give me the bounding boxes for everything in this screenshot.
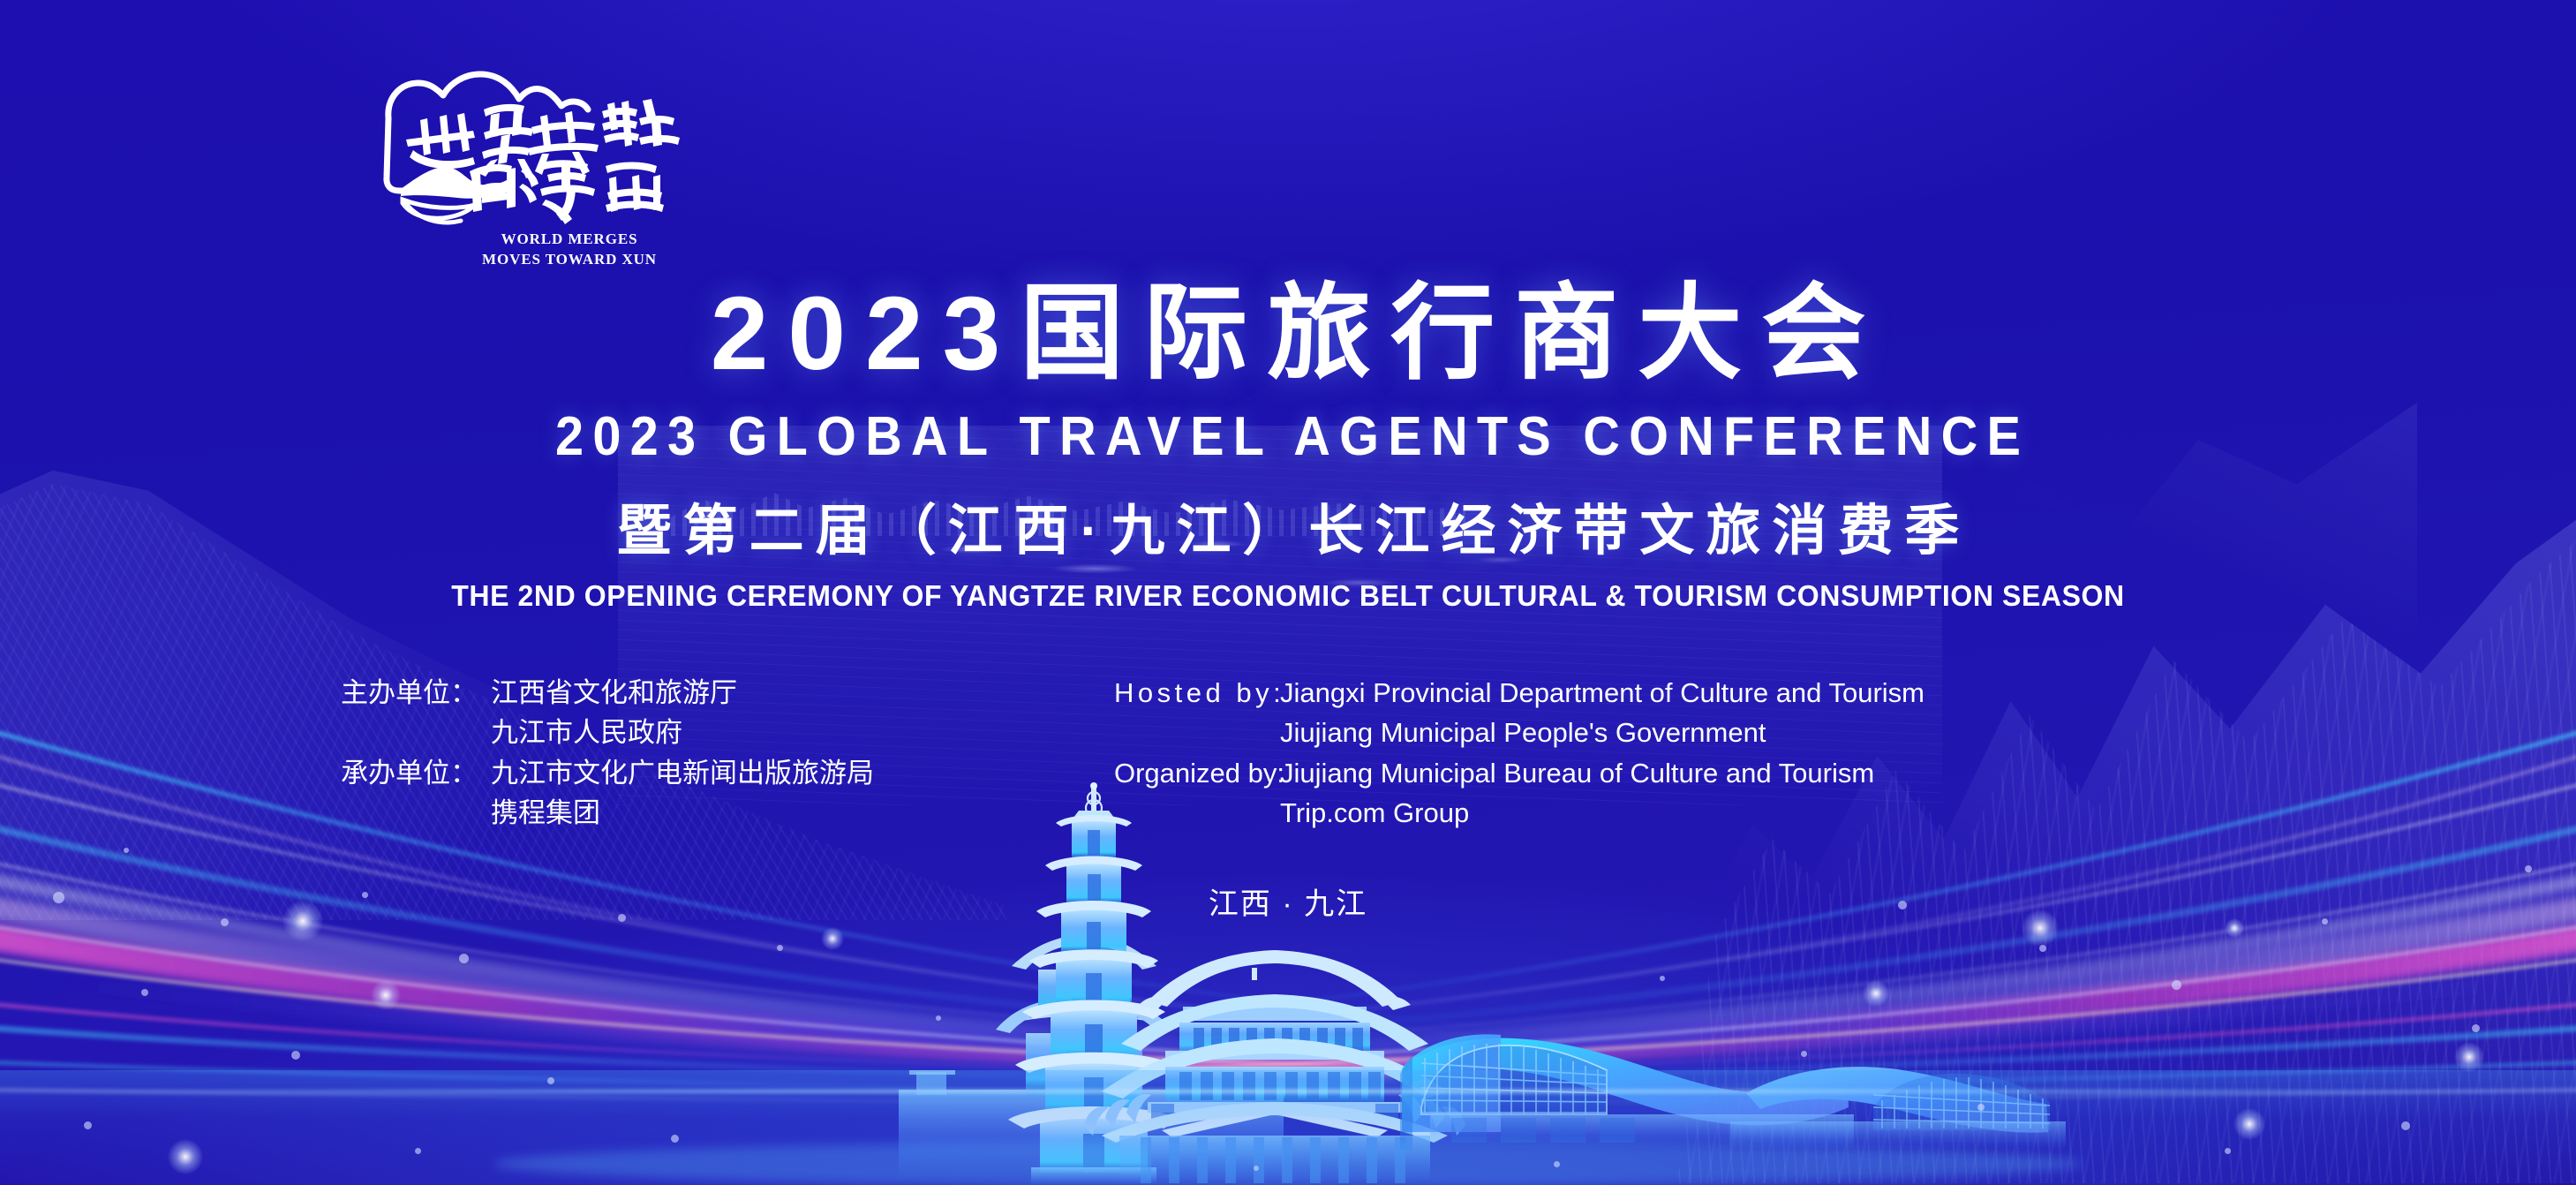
headline-block: 2023国际旅行商大会 2023 GLOBAL TRAVEL AGENTS CO… <box>0 279 2576 613</box>
title-english-main: 2023 GLOBAL TRAVEL AGENTS CONFERENCE <box>90 405 2486 468</box>
credits-en-host-value-0: Jiangxi Provincial Department of Culture… <box>1280 673 1924 713</box>
credits-en-host-value-1: Jiujiang Municipal People's Government <box>1280 713 1766 752</box>
logo-en-line1: WORLD MERGES <box>446 230 693 250</box>
credits-cn-organizer-value-1: 携程集团 <box>491 793 600 833</box>
poster-canvas: WORLD MERGES MOVES TOWARD XUN 2023国际旅行商大… <box>0 0 2576 1185</box>
ground-glow <box>0 1070 2576 1185</box>
credits-en-organizer-value-0: Jiujiang Municipal Bureau of Culture and… <box>1280 753 1874 793</box>
title-chinese-main: 2023国际旅行商大会 <box>0 279 2576 389</box>
credits-block: 主办单位： 江西省文化和旅游厅 九江市人民政府 承办单位： 九江市文化广电新闻出… <box>0 673 2576 832</box>
credits-en-organizer-label: Organized by: <box>1114 753 1280 793</box>
credits-cn-organizer-label: 承办单位： <box>341 753 491 793</box>
horizon-line <box>0 1090 2576 1093</box>
mountain-fill-icon <box>401 167 507 199</box>
credits-cn-host-value-1: 九江市人民政府 <box>491 713 682 752</box>
credits-cn-host-value-1-row: 九江市人民政府 <box>341 713 874 752</box>
logo-english-tagline: WORLD MERGES MOVES TOWARD XUN <box>446 230 693 270</box>
credits-cn-organizer-value-0: 九江市文化广电新闻出版旅游局 <box>491 753 874 793</box>
credits-cn-host-value-0: 江西省文化和旅游厅 <box>491 673 737 713</box>
credits-en-host-label: Hosted by: <box>1114 673 1280 713</box>
venue-label: 江西 · 九江 <box>0 879 2576 923</box>
subtitle-english: THE 2ND OPENING CEREMONY OF YANGTZE RIVE… <box>39 579 2537 613</box>
credits-cn-host-row: 主办单位： 江西省文化和旅游厅 <box>341 673 874 713</box>
credits-english: Hosted by: Jiangxi Provincial Department… <box>1114 673 1924 833</box>
credits-en-organizer-value-1-row: Trip.com Group <box>1114 793 1924 833</box>
credits-en-host-value-1-row: Jiujiang Municipal People's Government <box>1114 713 1924 752</box>
credits-chinese: 主办单位： 江西省文化和旅游厅 九江市人民政府 承办单位： 九江市文化广电新闻出… <box>341 673 874 833</box>
city-skyline <box>0 779 2576 1185</box>
event-logo <box>351 51 687 238</box>
credits-cn-organizer-value-1-row: 携程集团 <box>341 793 874 833</box>
logo-en-line2: MOVES TOWARD XUN <box>446 250 693 270</box>
credits-cn-host-label: 主办单位： <box>341 673 491 713</box>
credits-en-organizer-value-1: Trip.com Group <box>1280 793 1469 833</box>
credits-en-organizer-row: Organized by: Jiujiang Municipal Bureau … <box>1114 753 1924 793</box>
subtitle-chinese: 暨第二届（江西·九江）长江经济带文旅消费季 <box>0 486 2576 565</box>
credits-cn-organizer-row: 承办单位： 九江市文化广电新闻出版旅游局 <box>341 753 874 793</box>
credits-en-host-row: Hosted by: Jiangxi Provincial Department… <box>1114 673 1924 713</box>
